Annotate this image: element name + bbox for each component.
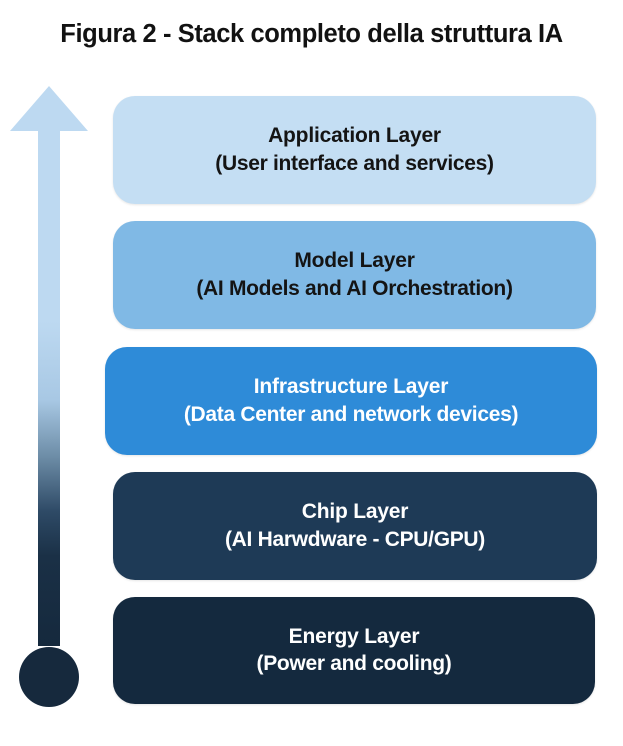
figure-canvas: Figura 2 - Stack completo della struttur…	[0, 0, 623, 746]
layer-title: Energy Layer	[289, 625, 420, 649]
layer-subtitle: (Data Center and network devices)	[184, 403, 518, 427]
stack-layer-model[interactable]: Model Layer (AI Models and AI Orchestrat…	[113, 221, 596, 329]
layer-subtitle: (AI Models and AI Orchestration)	[196, 277, 512, 301]
layer-title: Model Layer	[294, 249, 414, 273]
layer-subtitle: (User interface and services)	[215, 152, 493, 176]
stack-layers: Application Layer (User interface and se…	[0, 0, 623, 746]
stack-layer-application[interactable]: Application Layer (User interface and se…	[113, 96, 596, 204]
layer-title: Application Layer	[268, 124, 441, 148]
stack-layer-chip[interactable]: Chip Layer (AI Harwdware - CPU/GPU)	[113, 472, 597, 580]
layer-subtitle: (Power and cooling)	[257, 652, 452, 676]
layer-subtitle: (AI Harwdware - CPU/GPU)	[225, 528, 485, 552]
layer-title: Chip Layer	[302, 500, 409, 524]
stack-layer-infrastructure[interactable]: Infrastructure Layer (Data Center and ne…	[105, 347, 597, 455]
stack-layer-energy[interactable]: Energy Layer (Power and cooling)	[113, 597, 595, 704]
layer-title: Infrastructure Layer	[254, 375, 448, 399]
